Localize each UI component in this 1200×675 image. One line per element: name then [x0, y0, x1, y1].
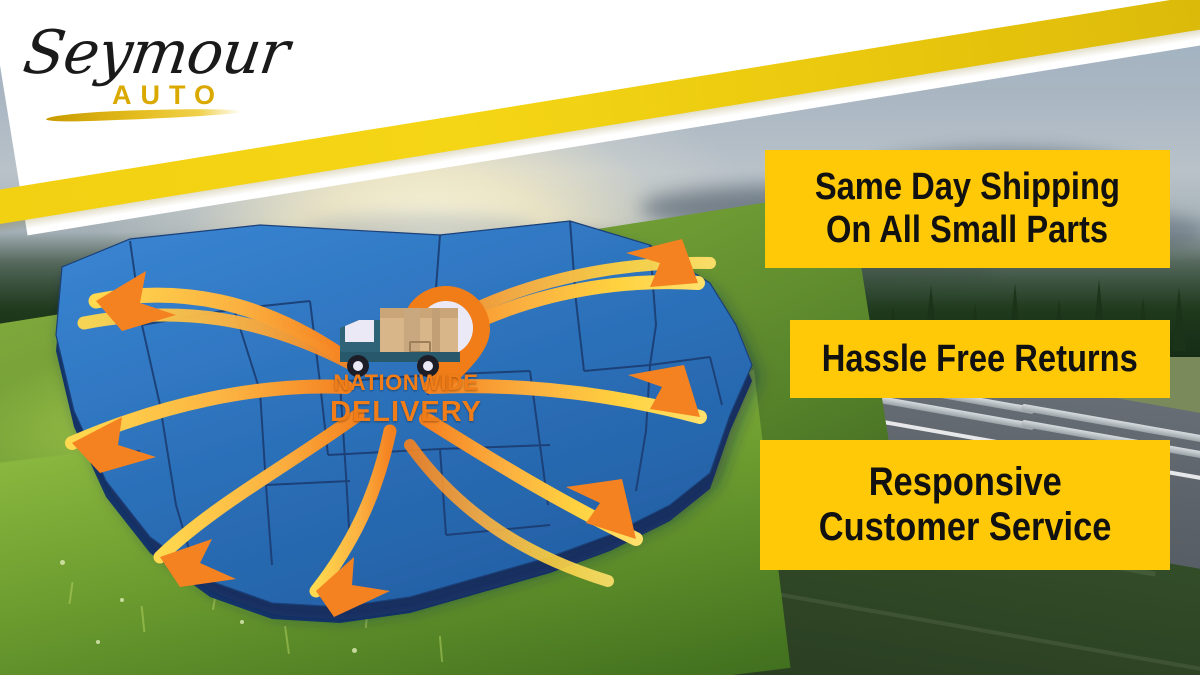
callout-1-line-2: On All Small Parts [826, 209, 1108, 252]
logo-script-text: Seymour [19, 18, 293, 88]
callout-responsive-customer-service: Responsive Customer Service [760, 440, 1170, 570]
callout-hassle-free-returns: Hassle Free Returns [790, 320, 1170, 398]
badge-line-2: DELIVERY [318, 398, 494, 427]
callout-1-line-1: Same Day Shipping [815, 166, 1120, 209]
logo-auto-text: AUTO [112, 80, 224, 111]
promotional-banner: NATIONWIDE DELIVERY Same Day Shipping On… [0, 0, 1200, 675]
callout-3-line-2: Customer Service [819, 505, 1112, 550]
callout-same-day-shipping: Same Day Shipping On All Small Parts [765, 150, 1170, 268]
nationwide-delivery-badge: NATIONWIDE DELIVERY [318, 280, 518, 450]
seymour-auto-logo[interactable]: Seymour AUTO [24, 18, 254, 122]
badge-line-1: NATIONWIDE [318, 372, 494, 394]
callout-2-line-1: Hassle Free Returns [822, 338, 1138, 381]
callout-3-line-1: Responsive [868, 460, 1061, 505]
badge-text-block: NATIONWIDE DELIVERY [318, 372, 494, 427]
